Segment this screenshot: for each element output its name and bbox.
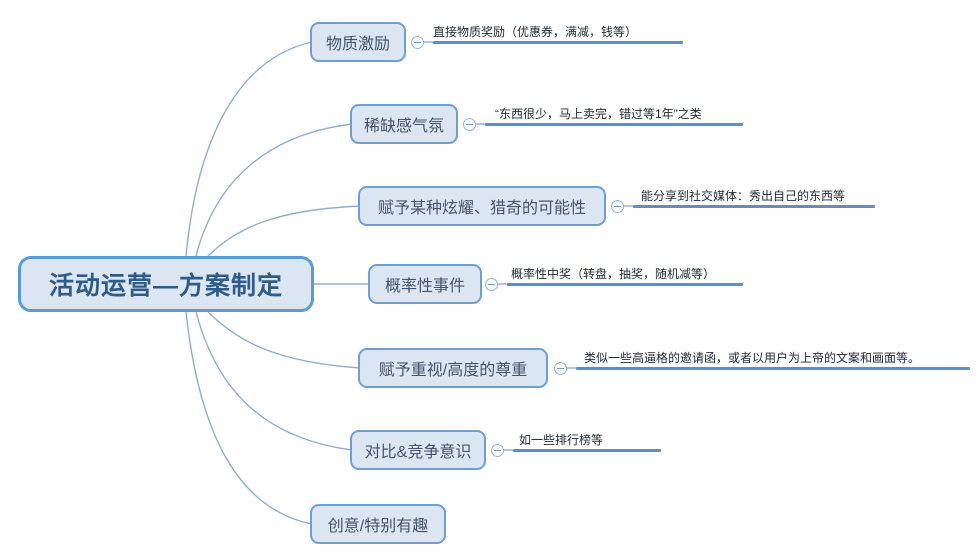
branch-node-probability-event[interactable]: 概率性事件 — [368, 264, 482, 304]
leaf-text-comparison-competition: 如一些排行榜等 — [519, 433, 603, 447]
leaf-rule-probability-event — [507, 283, 743, 286]
branch-label-material-incentive: 物质激励 — [326, 30, 390, 54]
branch-node-show-off-novelty[interactable]: 赋予某种炫耀、猎奇的可能性 — [358, 186, 606, 226]
branch-label-show-off-novelty: 赋予某种炫耀、猎奇的可能性 — [378, 194, 586, 218]
leaf-text-scarcity-atmosphere: “东西很少，马上卖完，错过等1年”之类 — [495, 107, 702, 121]
leaf-scarcity-atmosphere: “东西很少，马上卖完，错过等1年”之类 — [485, 100, 743, 126]
collapse-toggle-comparison-competition[interactable] — [491, 444, 504, 457]
collapse-toggle-show-off-novelty[interactable] — [611, 200, 624, 213]
branch-label-scarcity-atmosphere: 稀缺感气氛 — [364, 112, 444, 136]
collapse-toggle-probability-event[interactable] — [485, 278, 498, 291]
leaf-show-off-novelty: 能分享到社交媒体：秀出自己的东西等 — [633, 182, 875, 208]
connector-to-comparison-competition — [196, 312, 352, 450]
branch-label-comparison-competition: 对比&竞争意识 — [365, 438, 472, 462]
leaf-text-respect-importance: 类似一些高逼格的邀请函，或者以用户为上帝的文案和画面等。 — [584, 351, 920, 365]
branch-label-respect-importance: 赋予重视/高度的尊重 — [379, 356, 527, 380]
root-node[interactable]: 活动运营—方案制定 — [18, 256, 314, 312]
branch-node-scarcity-atmosphere[interactable]: 稀缺感气氛 — [350, 104, 458, 144]
branch-label-creative-fun: 创意/特别有趣 — [328, 512, 428, 536]
branch-node-respect-importance[interactable]: 赋予重视/高度的尊重 — [358, 348, 548, 388]
collapse-toggle-scarcity-atmosphere[interactable] — [463, 118, 476, 131]
leaf-probability-event: 概率性中奖（转盘，抽奖，随机减等） — [507, 260, 743, 286]
mindmap-canvas: 活动运营—方案制定 物质激励 直接物质奖励（优惠券，满减，钱等） 稀缺感气氛 “… — [0, 0, 980, 560]
branch-node-comparison-competition[interactable]: 对比&竞争意识 — [350, 430, 486, 470]
connector-to-scarcity-atmosphere — [196, 124, 352, 256]
collapse-toggle-respect-importance[interactable] — [554, 362, 567, 375]
leaf-text-material-incentive: 直接物质奖励（优惠券，满减，钱等） — [433, 25, 637, 39]
connector-to-creative-fun — [186, 312, 312, 524]
leaf-rule-comparison-competition — [513, 449, 661, 452]
leaf-material-incentive: 直接物质奖励（优惠券，满减，钱等） — [433, 18, 683, 44]
connector-to-show-off-novelty — [206, 206, 360, 258]
branch-node-creative-fun[interactable]: 创意/特别有趣 — [310, 504, 446, 544]
leaf-respect-importance: 类似一些高逼格的邀请函，或者以用户为上帝的文案和画面等。 — [576, 344, 970, 370]
leaf-comparison-competition: 如一些排行榜等 — [513, 426, 661, 452]
leaf-rule-respect-importance — [576, 367, 970, 370]
root-node-label: 活动运营—方案制定 — [49, 266, 283, 302]
branch-label-probability-event: 概率性事件 — [385, 272, 465, 296]
branch-node-material-incentive[interactable]: 物质激励 — [310, 22, 406, 62]
connector-to-respect-importance — [206, 310, 360, 368]
leaf-rule-show-off-novelty — [633, 205, 875, 208]
leaf-rule-scarcity-atmosphere — [485, 123, 743, 126]
collapse-toggle-material-incentive[interactable] — [411, 36, 424, 49]
leaf-text-probability-event: 概率性中奖（转盘，抽奖，随机减等） — [511, 267, 715, 281]
connector-to-material-incentive — [186, 42, 312, 256]
leaf-text-show-off-novelty: 能分享到社交媒体：秀出自己的东西等 — [641, 189, 845, 203]
leaf-rule-material-incentive — [433, 41, 683, 44]
